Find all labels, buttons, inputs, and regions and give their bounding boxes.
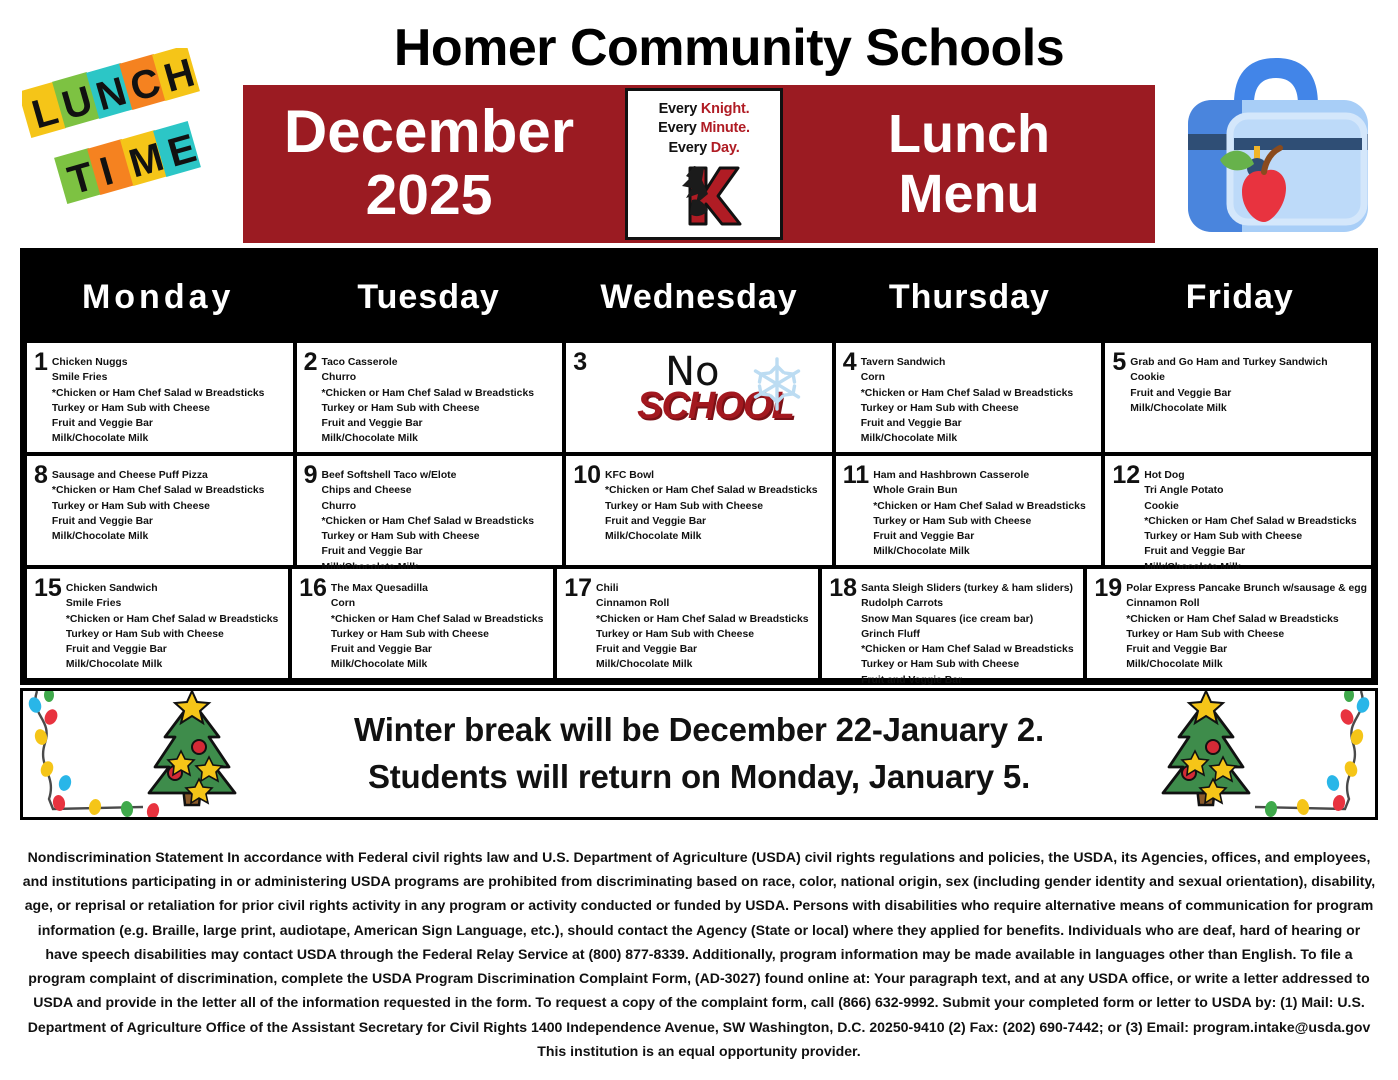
menu-item: Fruit and Veggie Bar bbox=[52, 514, 289, 529]
menu-item: *Chicken or Ham Chef Salad w Breadsticks bbox=[322, 386, 559, 401]
menu-item: Fruit and Veggie Bar bbox=[52, 416, 289, 431]
calendar-day-cell-no-school[interactable]: 3 No SCHOOL bbox=[566, 343, 832, 452]
logo-day-prefix: Every bbox=[668, 140, 710, 156]
menu-item: *Chicken or Ham Chef Salad w Breadsticks bbox=[66, 612, 284, 627]
menu-item: Milk/Chocolate Milk bbox=[1126, 657, 1367, 672]
day-number: 18 bbox=[822, 569, 857, 678]
day-number: 15 bbox=[27, 569, 62, 678]
day-header-thursday: Thursday bbox=[834, 251, 1104, 343]
logo-line-day: Every Day. bbox=[668, 139, 739, 158]
calendar-day-cell[interactable]: 19 Polar Express Pancake Brunch w/sausag… bbox=[1087, 569, 1371, 678]
day-number: 5 bbox=[1105, 343, 1126, 452]
day-number: 1 bbox=[27, 343, 48, 452]
lunch-menu-block: Lunch Menu bbox=[783, 85, 1155, 243]
menu-item: Turkey or Ham Sub with Cheese bbox=[322, 529, 559, 544]
menu-item: Fruit and Veggie Bar bbox=[873, 529, 1097, 544]
menu-item: Fruit and Veggie Bar bbox=[322, 544, 559, 559]
month-label: December bbox=[284, 101, 574, 163]
day-number: 16 bbox=[292, 569, 327, 678]
menu-item: Milk/Chocolate Milk bbox=[66, 657, 284, 672]
lunchbox-icon bbox=[1172, 42, 1384, 242]
menu-items: Chicken SandwichSmile Fries*Chicken or H… bbox=[62, 569, 288, 678]
menu-item: *Chicken or Ham Chef Salad w Breadsticks bbox=[331, 612, 549, 627]
menu-item: *Chicken or Ham Chef Salad w Breadsticks bbox=[1144, 514, 1367, 529]
menu-item: Turkey or Ham Sub with Cheese bbox=[596, 627, 814, 642]
menu-items: Grab and Go Ham and Turkey SandwichCooki… bbox=[1126, 343, 1371, 452]
month-banner: December 2025 Every Knight. Every Minute… bbox=[243, 85, 1155, 243]
menu-item: Fruit and Veggie Bar bbox=[1126, 642, 1367, 657]
menu-item: Sausage and Cheese Puff Pizza bbox=[52, 468, 289, 483]
logo-minute-prefix: Every bbox=[658, 120, 700, 136]
lunch-label: Lunch bbox=[888, 104, 1050, 164]
calendar-day-cell[interactable]: 15 Chicken SandwichSmile Fries*Chicken o… bbox=[27, 569, 288, 678]
menu-item: Turkey or Ham Sub with Cheese bbox=[861, 401, 1098, 416]
day-number: 8 bbox=[27, 456, 48, 565]
menu-item: Milk/Chocolate Milk bbox=[1130, 401, 1367, 416]
logo-day-word: Day. bbox=[711, 140, 740, 156]
menu-item: Fruit and Veggie Bar bbox=[1130, 386, 1367, 401]
menu-item: Fruit and Veggie Bar bbox=[861, 416, 1098, 431]
menu-label: Menu bbox=[899, 164, 1040, 224]
menu-item: Turkey or Ham Sub with Cheese bbox=[605, 499, 828, 514]
nondiscrimination-statement: Nondiscrimination Statement In accordanc… bbox=[22, 845, 1376, 1063]
menu-item: Churro bbox=[322, 499, 559, 514]
menu-item: *Chicken or Ham Chef Salad w Breadsticks bbox=[52, 386, 289, 401]
menu-items: Tavern SandwichCorn*Chicken or Ham Chef … bbox=[857, 343, 1102, 452]
menu-item: Cinnamon Roll bbox=[1126, 596, 1367, 611]
menu-items: The Max QuesadillaCorn*Chicken or Ham Ch… bbox=[327, 569, 553, 678]
day-number: 2 bbox=[297, 343, 318, 452]
menu-item: Ham and Hashbrown Casserole bbox=[873, 468, 1097, 483]
calendar-day-cell[interactable]: 11 Ham and Hashbrown CasseroleWhole Grai… bbox=[836, 456, 1102, 565]
logo-knight-prefix: Every bbox=[659, 101, 701, 117]
menu-item: Chili bbox=[596, 581, 814, 596]
menu-item: Turkey or Ham Sub with Cheese bbox=[1144, 529, 1367, 544]
calendar-day-cell[interactable]: 2 Taco CasseroleChurro*Chicken or Ham Ch… bbox=[297, 343, 563, 452]
menu-item: Taco Casserole bbox=[322, 355, 559, 370]
menu-item: Milk/Chocolate Milk bbox=[322, 431, 559, 446]
day-number: 12 bbox=[1105, 456, 1140, 565]
menu-item: Turkey or Ham Sub with Cheese bbox=[861, 657, 1079, 672]
menu-item: Fruit and Veggie Bar bbox=[605, 514, 828, 529]
menu-item: *Chicken or Ham Chef Salad w Breadsticks bbox=[1126, 612, 1367, 627]
knight-k-mascot-icon bbox=[664, 160, 744, 232]
menu-calendar: Monday Tuesday Wednesday Thursday Friday… bbox=[20, 248, 1378, 685]
holiday-decoration-left bbox=[23, 691, 273, 817]
calendar-day-cell[interactable]: 12 Hot DogTri Angle PotatoCookie*Chicken… bbox=[1105, 456, 1371, 565]
menu-item: Churro bbox=[322, 370, 559, 385]
christmas-tree-right bbox=[1163, 691, 1249, 805]
page-header: L U N C H T I M E Homer Community School… bbox=[0, 0, 1398, 245]
calendar-day-cell[interactable]: 17 ChiliCinnamon Roll*Chicken or Ham Che… bbox=[557, 569, 818, 678]
day-number: 10 bbox=[566, 456, 601, 565]
menu-item: Corn bbox=[861, 370, 1098, 385]
menu-item: Cookie bbox=[1130, 370, 1367, 385]
christmas-tree-and-lights-right-icon bbox=[1125, 691, 1375, 817]
menu-item: Milk/Chocolate Milk bbox=[331, 657, 549, 672]
year-label: 2025 bbox=[366, 164, 493, 227]
calendar-day-cell[interactable]: 18 Santa Sleigh Sliders (turkey & ham sl… bbox=[822, 569, 1083, 678]
logo-minute-word: Minute. bbox=[701, 120, 750, 136]
day-number: 19 bbox=[1087, 569, 1122, 678]
day-number: 9 bbox=[297, 456, 318, 565]
menu-item: Milk/Chocolate Milk bbox=[861, 431, 1098, 446]
menu-item: The Max Quesadilla bbox=[331, 581, 549, 596]
menu-item: Turkey or Ham Sub with Cheese bbox=[322, 401, 559, 416]
day-number: 11 bbox=[836, 456, 869, 565]
menu-item: *Chicken or Ham Chef Salad w Breadsticks bbox=[605, 483, 828, 498]
logo-knight-word: Knight. bbox=[701, 101, 750, 117]
menu-item: Polar Express Pancake Brunch w/sausage &… bbox=[1126, 581, 1367, 596]
menu-items: Hot DogTri Angle PotatoCookie*Chicken or… bbox=[1140, 456, 1371, 565]
day-number: 4 bbox=[836, 343, 857, 452]
calendar-day-cell[interactable]: 10 KFC Bowl*Chicken or Ham Chef Salad w … bbox=[566, 456, 832, 565]
menu-item: Milk/Chocolate Milk bbox=[873, 544, 1097, 559]
day-number: 17 bbox=[557, 569, 592, 678]
menu-item: Hot Dog bbox=[1144, 468, 1367, 483]
menu-items: Polar Express Pancake Brunch w/sausage &… bbox=[1122, 569, 1371, 678]
menu-item: Fruit and Veggie Bar bbox=[861, 673, 1079, 688]
district-logo: Every Knight. Every Minute. Every Day. bbox=[625, 88, 783, 240]
menu-item: Smile Fries bbox=[66, 596, 284, 611]
menu-item: *Chicken or Ham Chef Salad w Breadsticks bbox=[596, 612, 814, 627]
day-header-row: Monday Tuesday Wednesday Thursday Friday bbox=[23, 251, 1375, 343]
day-header-wednesday: Wednesday bbox=[564, 251, 834, 343]
calendar-week-2: 8 Sausage and Cheese Puff Pizza*Chicken … bbox=[23, 456, 1375, 569]
menu-item: Turkey or Ham Sub with Cheese bbox=[1126, 627, 1367, 642]
menu-item: Grab and Go Ham and Turkey Sandwich bbox=[1130, 355, 1367, 370]
menu-item: Fruit and Veggie Bar bbox=[596, 642, 814, 657]
menu-item: Chips and Cheese bbox=[322, 483, 559, 498]
snowflake-icon bbox=[748, 355, 806, 413]
calendar-day-cell[interactable]: 4 Tavern SandwichCorn*Chicken or Ham Che… bbox=[836, 343, 1102, 452]
holiday-decoration-right bbox=[1125, 691, 1375, 817]
christmas-tree-left bbox=[149, 691, 235, 805]
menu-items: KFC Bowl*Chicken or Ham Chef Salad w Bre… bbox=[601, 456, 832, 565]
menu-items: Taco CasseroleChurro*Chicken or Ham Chef… bbox=[318, 343, 563, 452]
menu-item: Fruit and Veggie Bar bbox=[322, 416, 559, 431]
menu-item: Tavern Sandwich bbox=[861, 355, 1098, 370]
winter-break-line1: Winter break will be December 22-January… bbox=[354, 707, 1044, 754]
menu-item: *Chicken or Ham Chef Salad w Breadsticks bbox=[861, 386, 1098, 401]
menu-item: *Chicken or Ham Chef Salad w Breadsticks bbox=[873, 499, 1097, 514]
calendar-day-cell[interactable]: 9 Beef Softshell Taco w/EloteChips and C… bbox=[297, 456, 563, 565]
day-header-friday: Friday bbox=[1105, 251, 1375, 343]
menu-item: Snow Man Squares (ice cream bar) bbox=[861, 612, 1079, 627]
menu-item: Rudolph Carrots bbox=[861, 596, 1079, 611]
menu-item: Santa Sleigh Sliders (turkey & ham slide… bbox=[861, 581, 1079, 596]
calendar-day-cell[interactable]: 16 The Max QuesadillaCorn*Chicken or Ham… bbox=[292, 569, 553, 678]
menu-item: Milk/Chocolate Milk bbox=[52, 431, 289, 446]
menu-item: Chicken Sandwich bbox=[66, 581, 284, 596]
menu-item: Turkey or Ham Sub with Cheese bbox=[66, 627, 284, 642]
calendar-day-cell[interactable]: 8 Sausage and Cheese Puff Pizza*Chicken … bbox=[27, 456, 293, 565]
day-number: 3 bbox=[566, 343, 587, 452]
menu-item: *Chicken or Ham Chef Salad w Breadsticks bbox=[322, 514, 559, 529]
menu-item: Turkey or Ham Sub with Cheese bbox=[873, 514, 1097, 529]
menu-item: Whole Grain Bun bbox=[873, 483, 1097, 498]
menu-items: Ham and Hashbrown CasseroleWhole Grain B… bbox=[869, 456, 1101, 565]
menu-item: Cinnamon Roll bbox=[596, 596, 814, 611]
logo-line-minute: Every Minute. bbox=[658, 119, 750, 138]
day-header-monday: Monday bbox=[23, 251, 293, 343]
menu-item: Milk/Chocolate Milk bbox=[52, 529, 289, 544]
menu-item: Tri Angle Potato bbox=[1144, 483, 1367, 498]
menu-item: Fruit and Veggie Bar bbox=[331, 642, 549, 657]
day-header-tuesday: Tuesday bbox=[293, 251, 563, 343]
menu-items: Chicken NuggsSmile Fries*Chicken or Ham … bbox=[48, 343, 293, 452]
calendar-day-cell[interactable]: 5 Grab and Go Ham and Turkey SandwichCoo… bbox=[1105, 343, 1371, 452]
menu-item: Fruit and Veggie Bar bbox=[1144, 544, 1367, 559]
menu-items: Beef Softshell Taco w/EloteChips and Che… bbox=[318, 456, 563, 565]
menu-item: *Chicken or Ham Chef Salad w Breadsticks bbox=[52, 483, 289, 498]
menu-item: Grinch Fluff bbox=[861, 627, 1079, 642]
calendar-week-1: 1 Chicken NuggsSmile Fries*Chicken or Ha… bbox=[23, 343, 1375, 456]
menu-item: *Chicken or Ham Chef Salad w Breadsticks bbox=[861, 642, 1079, 657]
winter-break-notice: Winter break will be December 22-January… bbox=[20, 688, 1378, 820]
menu-item: Corn bbox=[331, 596, 549, 611]
menu-items: Santa Sleigh Sliders (turkey & ham slide… bbox=[857, 569, 1083, 678]
menu-item: Fruit and Veggie Bar bbox=[66, 642, 284, 657]
menu-items: ChiliCinnamon Roll*Chicken or Ham Chef S… bbox=[592, 569, 818, 678]
month-year-block: December 2025 bbox=[243, 85, 625, 243]
menu-item: Milk/Chocolate Milk bbox=[605, 529, 828, 544]
winter-break-line2: Students will return on Monday, January … bbox=[368, 754, 1030, 801]
menu-item: Cookie bbox=[1144, 499, 1367, 514]
lunch-menu-page: L U N C H T I M E Homer Community School… bbox=[0, 0, 1398, 1080]
menu-item: Smile Fries bbox=[52, 370, 289, 385]
menu-item: Turkey or Ham Sub with Cheese bbox=[52, 401, 289, 416]
menu-item: Turkey or Ham Sub with Cheese bbox=[331, 627, 549, 642]
menu-item: Milk/Chocolate Milk bbox=[596, 657, 814, 672]
menu-item: Chicken Nuggs bbox=[52, 355, 289, 370]
menu-item: KFC Bowl bbox=[605, 468, 828, 483]
christmas-lights-and-tree-left-icon bbox=[23, 691, 273, 817]
menu-item: Turkey or Ham Sub with Cheese bbox=[52, 499, 289, 514]
logo-line-knight: Every Knight. bbox=[659, 100, 750, 119]
calendar-week-3: 15 Chicken SandwichSmile Fries*Chicken o… bbox=[23, 569, 1375, 682]
menu-item: Beef Softshell Taco w/Elote bbox=[322, 468, 559, 483]
lunchbox-illustration bbox=[1172, 42, 1384, 242]
no-school-graphic: No SCHOOL bbox=[587, 343, 832, 452]
calendar-day-cell[interactable]: 1 Chicken NuggsSmile Fries*Chicken or Ha… bbox=[27, 343, 293, 452]
menu-items: Sausage and Cheese Puff Pizza*Chicken or… bbox=[48, 456, 293, 565]
